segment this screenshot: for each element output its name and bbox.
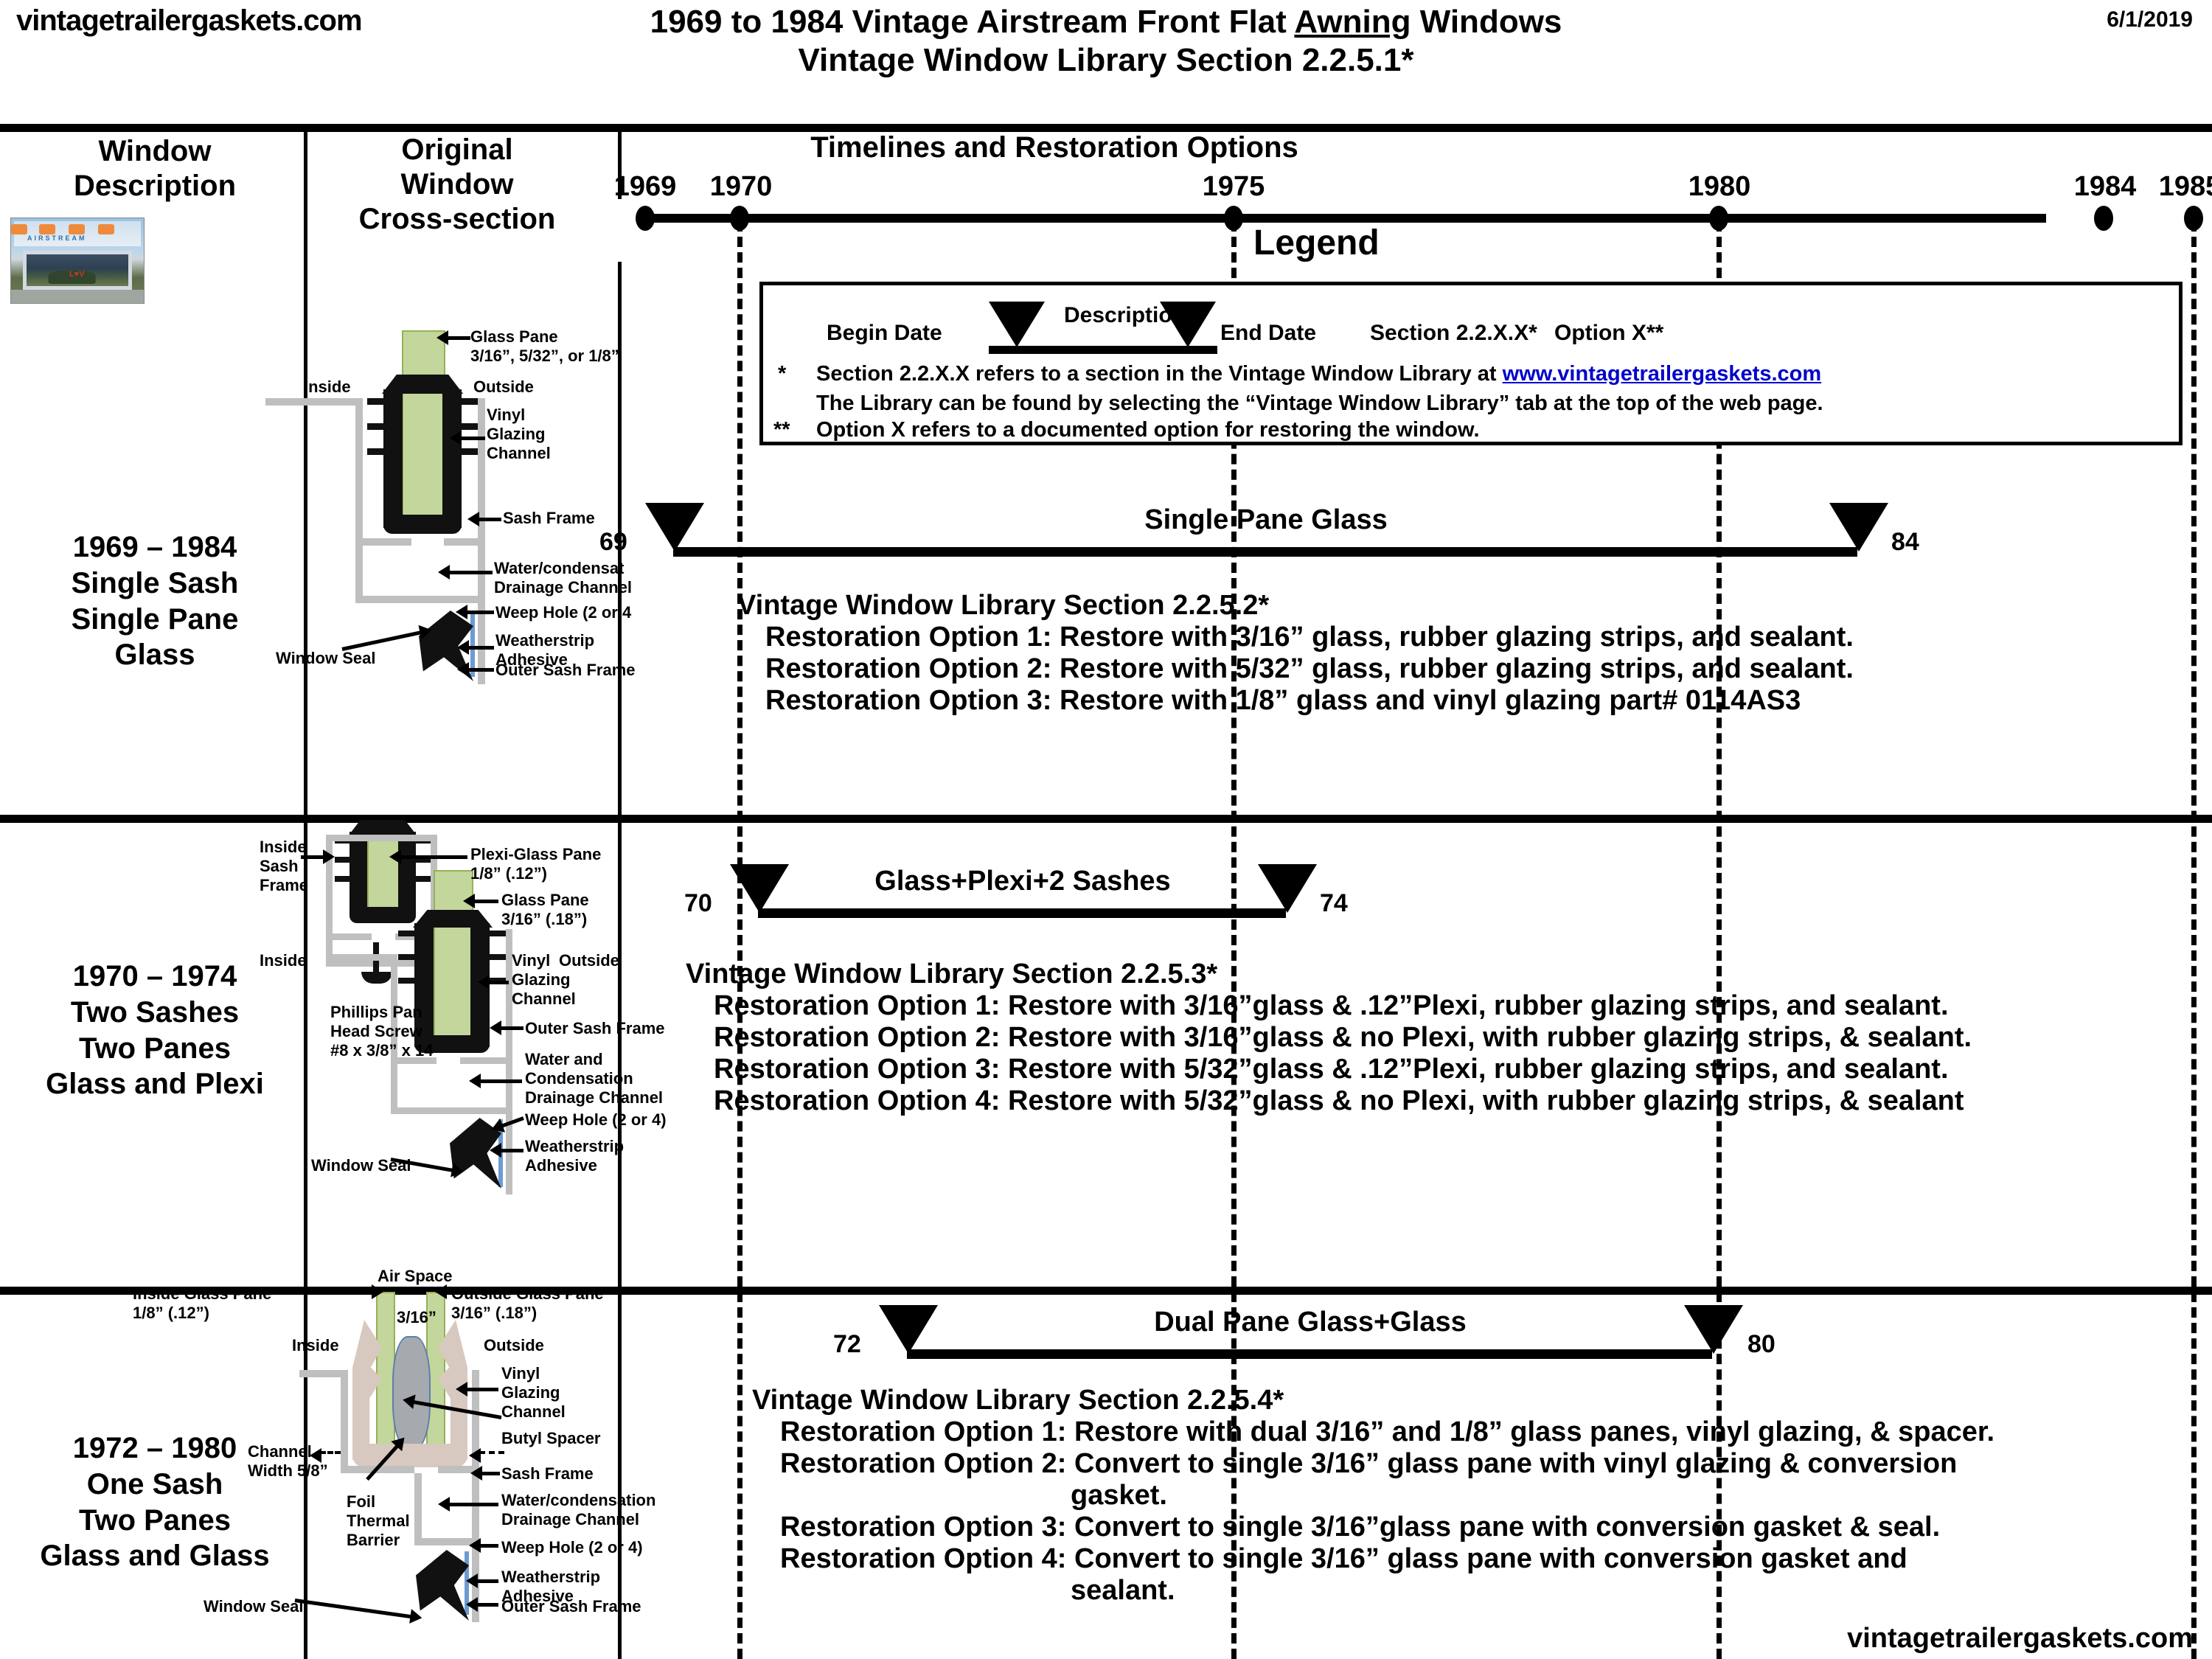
row2-line2: Two Sashes (7, 995, 302, 1031)
label-row3-water-drainage: Water/condensationDrainage Channel (501, 1491, 655, 1529)
row1-line3: Single Pane (7, 602, 302, 638)
inner-fin-l2 (335, 857, 349, 863)
row-3-cross-section-diagram: Inside Glass Pane1/8” (.12”) Air Space 3… (258, 1298, 619, 1652)
arrow-drainage-channel (448, 571, 493, 574)
label-outer-sash-frame: Outer Sash Frame (495, 661, 636, 680)
column-header-window-description: Window Description (7, 134, 302, 204)
arrow-outside-glass-pane (445, 1290, 462, 1294)
arrow-row2-drainage (479, 1079, 522, 1083)
inner-glazing-right (398, 832, 416, 914)
row-1-timeline: 69 84 Single Pane Glass (645, 516, 2194, 582)
pumpkin-decal-3 (98, 224, 114, 234)
label-row3-inside: Inside (292, 1336, 339, 1355)
arrow-row3-outer-sash-frame (476, 1603, 498, 1607)
title-underlined-word: Awning (1294, 4, 1411, 40)
row3-option-3: Restoration Option 3: Convert to single … (752, 1512, 2212, 1543)
arrow-window-seal (341, 630, 422, 651)
glazing-left-shape (383, 389, 403, 528)
label-row3-vinyl-glazing: VinylGlazingChannel (501, 1364, 566, 1422)
axis-label-1980: 1980 (1668, 171, 1771, 203)
row1-bar (673, 547, 1857, 557)
row3-option-2-cont: gasket. (752, 1480, 2212, 1512)
row3-option-2: Restoration Option 2: Convert to single … (752, 1448, 2212, 1480)
arrow-row3-sash-frame (481, 1472, 500, 1475)
label-row2-weatherstrip: WeatherstripAdhesive (525, 1137, 624, 1175)
col2-line2: Window (310, 167, 605, 202)
row1-line2: Single Sash (7, 566, 302, 602)
row-2-timeline: 70 74 Glass+Plexi+2 Sashes (730, 877, 2197, 944)
legend-option-ref: Option X** (1554, 321, 1663, 346)
inner-glazing-bottom (349, 907, 416, 923)
outer-fin-l1 (398, 931, 414, 936)
arrow-row3-window-seal (295, 1599, 412, 1618)
row-1-description: 1969 – 1984 Single Sash Single Pane Glas… (7, 529, 302, 673)
row1-caption: Single Pane Glass (645, 504, 1887, 536)
label-water-drainage: Water/condensatDrainage Channel (494, 559, 632, 597)
mid-connector-rail (326, 954, 397, 961)
legend-box: Begin Date Description End Date Section … (759, 282, 2183, 445)
row-3-timeline: 72 80 Dual Pane Glass+Glass (879, 1318, 2199, 1385)
document-date: 6/1/2019 (2107, 7, 2193, 32)
axis-dot-1969 (636, 206, 655, 231)
gasket-bottom-shape (352, 1444, 467, 1467)
col2-line1: Original (310, 133, 605, 167)
legend-footnote-1-text-2: The Library can be found by selecting th… (816, 392, 1823, 416)
legend-title: Legend (1253, 223, 1380, 263)
row2-option-3: Restoration Option 3: Restore with 5/32”… (686, 1054, 2205, 1085)
airstream-logo-text: AIRSTREAM (27, 234, 87, 242)
axis-label-1970: 1970 (689, 171, 793, 203)
arrow-vinyl-glazing (460, 437, 485, 440)
photo-foreground (11, 290, 144, 303)
row-1-restoration-text: Vintage Window Library Section 2.2.5.2* … (737, 590, 2183, 717)
row3-sash-left-wall (341, 1370, 348, 1473)
screw-head (361, 972, 392, 984)
site-watermark-top: vintagetrailergaskets.com (16, 4, 362, 38)
label-row2-water-drainage: Water andCondensationDrainage Channel (525, 1050, 663, 1107)
sash-mid-rail-b (444, 538, 485, 546)
row2-option-1: Restoration Option 1: Restore with 3/16”… (686, 990, 2205, 1022)
legend-end-date: End Date (1220, 321, 1316, 346)
arrow-sash-frame (478, 518, 501, 521)
col2-line3: Cross-section (310, 202, 605, 237)
row3-drain-left-wall (414, 1473, 422, 1545)
glazing-fin-r1 (460, 398, 478, 405)
inner-sash-top (326, 835, 437, 841)
label-air-space: Air Space (378, 1267, 453, 1286)
drain-floor (355, 596, 485, 603)
col1-line1: Window (7, 134, 302, 169)
row1-option-1: Restoration Option 1: Restore with 3/16”… (737, 622, 2183, 653)
legend-footnote-2-mark: ** (773, 418, 790, 442)
inner-fin-r3 (416, 876, 431, 882)
arrow-weatherstrip (467, 646, 494, 650)
arrow-outer-sash-frame (467, 668, 494, 672)
row2-section-ref: Vintage Window Library Section 2.2.5.3* (686, 959, 2205, 990)
row3-window-seal-shape (416, 1550, 469, 1621)
row1-option-2: Restoration Option 2: Restore with 5/32”… (737, 653, 2183, 685)
arrow-row2-vinyl-glazing (488, 981, 509, 984)
row2-caption: Glass+Plexi+2 Sashes (730, 866, 1315, 897)
document-title: 1969 to 1984 Vintage Airstream Front Fla… (516, 3, 1696, 80)
row2-years: 1970 – 1974 (7, 959, 302, 995)
drain-left-wall (355, 546, 363, 603)
inner-sash-mid-a (326, 933, 372, 940)
label-window-seal: Window Seal (276, 649, 375, 668)
legend-begin-date: Begin Date (827, 321, 942, 346)
row-3-restoration-text: Vintage Window Library Section 2.2.5.4* … (752, 1385, 2212, 1607)
legend-footnote-1-text: Section 2.2.X.X refers to a section in t… (816, 362, 1821, 386)
label-row2-weep-hole: Weep Hole (2 or 4) (525, 1110, 667, 1130)
axis-dot-1984 (2094, 206, 2113, 231)
label-inside-sash-frame: InsideSashFrame (260, 838, 308, 895)
sash-inner-wall (355, 398, 363, 546)
glazing-fin-r3 (460, 448, 478, 455)
legend-footnote-2-text: Option X refers to a documented option f… (816, 418, 1480, 442)
arrow-inside-glass-pane (279, 1290, 373, 1294)
outer-drain-floor (391, 1107, 512, 1114)
arrow-row3-weatherstrip (476, 1579, 498, 1583)
label-inside: Inside (304, 378, 351, 397)
glazing-right-shape (442, 389, 462, 528)
axis-label-1969: 1969 (594, 171, 697, 203)
master-timeline-axis (645, 214, 2046, 223)
arrow-inside-sash-frame (301, 855, 324, 859)
outer-mid-rail-b (460, 1057, 512, 1064)
arrow-glass-pane (447, 336, 470, 340)
axis-label-1975: 1975 (1182, 171, 1285, 203)
glazing-fin-l1 (367, 398, 385, 405)
title-line-1: 1969 to 1984 Vintage Airstream Front Fla… (650, 4, 1562, 40)
row-2-cross-section-diagram: InsideSashFrame Plexi-Glass Pane1/8” (.1… (265, 824, 618, 1281)
glazing-fin-l2 (367, 423, 385, 430)
outer-fin-l2 (398, 954, 414, 960)
arrow-channel-width-left (320, 1451, 341, 1454)
row1-line4: Glass (7, 637, 302, 673)
label-row3-outer-sash-frame: Outer Sash Frame (501, 1597, 641, 1616)
weatherstrip-adhesive-shape (470, 611, 475, 677)
rule-row1-row2 (0, 815, 2212, 823)
row2-line4: Glass and Plexi (7, 1066, 302, 1102)
label-outside-glass-pane: Outside Glass Pane3/16” (.18”) (451, 1284, 604, 1323)
sash-top-left-rail (265, 398, 361, 406)
arrow-row2-weatherstrip (500, 1149, 524, 1152)
photo-window: L♥V (23, 251, 132, 290)
glazing-fin-r2 (460, 423, 478, 430)
label-plexi-pane: Plexi-Glass Pane1/8” (.12”) (470, 845, 601, 883)
outer-sash-frame-shape (478, 603, 485, 684)
label-row2-outer-sash-frame: Outer Sash Frame (525, 1019, 665, 1038)
legend-sample-row: Begin Date Description End Date Section … (776, 302, 2192, 347)
arrow-row2-outer-sash-frame (500, 1026, 524, 1030)
begin-marker-triangle (989, 302, 1045, 347)
pumpkin-decal-2-wrap (11, 224, 27, 234)
row1-years: 1969 – 1984 (7, 529, 302, 566)
label-row2-inside: Inside (260, 951, 307, 970)
label-butyl-spacer: Butyl Spacer (501, 1429, 601, 1448)
arrow-channel-width-right (479, 1451, 504, 1454)
row-1-cross-section-diagram: Glass Pane3/16”, 5/32”, or 1/8” Inside O… (310, 324, 618, 796)
label-weep-hole: Weep Hole (2 or 4 (495, 603, 631, 622)
row3-section-ref: Vintage Window Library Section 2.2.5.4* (752, 1385, 2212, 1416)
label-air-dimension: 3/16” (397, 1308, 437, 1327)
label-row3-outside: Outside (484, 1336, 544, 1355)
arrow-row3-vinyl-glazing (466, 1388, 498, 1391)
arrow-row3-drainage (448, 1503, 498, 1506)
col1-line2: Description (7, 169, 302, 204)
outer-fin-l3 (398, 978, 414, 984)
label-outside: Outside (473, 378, 534, 397)
row2-option-2: Restoration Option 2: Restore with 3/16”… (686, 1022, 2205, 1054)
arrow-weep-hole (466, 611, 494, 614)
arrow-plexi-pane (400, 855, 467, 859)
label-phillips-screw: Phillips PanHead Screw#8 x 3/8” x 14 (330, 1003, 433, 1060)
row-2-description: 1970 – 1974 Two Sashes Two Panes Glass a… (7, 959, 302, 1102)
label-row2-vinyl-glazing: VinylGlazingChannel (512, 951, 576, 1009)
row3-begin-year: 72 (833, 1330, 861, 1359)
row1-section-ref: Vintage Window Library Section 2.2.5.2* (737, 590, 2183, 622)
airstream-window-photo: AIRSTREAM L♥V (10, 218, 145, 304)
inner-glazing-left (349, 832, 367, 914)
arrow-row3-weep-hole (479, 1544, 498, 1548)
legend-section-ref: Section 2.2.X.X* (1370, 321, 1537, 346)
glazing-bottom-shape (383, 515, 462, 534)
inner-fin-l3 (335, 876, 349, 882)
column-header-timelines: Timelines and Restoration Options (612, 131, 1497, 164)
glazing-fin-l3 (367, 448, 385, 455)
row3-drain-right-wall (472, 1473, 479, 1545)
drain-right-wall (478, 546, 485, 603)
row2-option-4: Restoration Option 4: Restore with 5/32”… (686, 1085, 2205, 1117)
label-foil-thermal-barrier: FoilThermalBarrier (347, 1492, 410, 1550)
love-decal: L♥V (69, 270, 85, 279)
row2-begin-year: 70 (684, 889, 712, 918)
title-line-2: Vintage Window Library Section 2.2.5.1* (516, 41, 1696, 80)
row1-option-3: Restoration Option 3: Restore with 1/8” … (737, 685, 2183, 717)
row3-option-4: Restoration Option 4: Convert to single … (752, 1543, 2212, 1575)
pumpkin-decal-1 (39, 224, 55, 234)
row-2-restoration-text: Vintage Window Library Section 2.2.5.3* … (686, 959, 2205, 1117)
legend-footnote-1-mark: * (778, 362, 786, 386)
label-row3-weep-hole: Weep Hole (2 or 4) (501, 1538, 643, 1557)
row3-option-4-cont: sealant. (752, 1575, 2212, 1607)
outer-fin-r1 (490, 931, 506, 936)
row2-line3: Two Panes (7, 1031, 302, 1067)
row3-end-year: 80 (1747, 1330, 1775, 1359)
label-vinyl-glazing-channel: VinylGlazingChannel (487, 406, 551, 463)
label-row3-window-seal: Window Seal (204, 1597, 303, 1616)
row1-end-year: 84 (1891, 528, 1919, 557)
row1-begin-year: 69 (599, 528, 627, 557)
row3-option-1: Restoration Option 1: Restore with dual … (752, 1416, 2212, 1448)
label-row3-sash-frame: Sash Frame (501, 1464, 594, 1484)
label-inside-glass-pane: Inside Glass Pane1/8” (.12”) (133, 1284, 271, 1323)
row2-end-year: 74 (1320, 889, 1348, 918)
row3-caption: Dual Pane Glass+Glass (879, 1307, 1742, 1338)
glass-pane-shape (402, 330, 445, 525)
arrow-row2-glass-pane (473, 900, 498, 903)
outer-fin-r2 (490, 954, 506, 960)
axis-label-1985: 1985 (2138, 171, 2212, 203)
site-watermark-bottom: vintagetrailergaskets.com (1847, 1623, 2193, 1655)
pumpkin-decal-2 (69, 224, 85, 234)
label-sash-frame: Sash Frame (503, 509, 595, 528)
label-glass-pane: Glass Pane3/16”, 5/32”, or 1/8” (470, 327, 619, 366)
column-header-cross-section: Original Window Cross-section (310, 133, 605, 237)
sash-mid-rail-a (355, 538, 411, 546)
row3-bar (907, 1349, 1712, 1359)
vintage-window-library-link[interactable]: www.vintagetrailergaskets.com (1503, 362, 1821, 386)
row2-bar (758, 908, 1286, 918)
end-marker-triangle (1160, 302, 1216, 347)
label-row2-glass-pane: Glass Pane3/16” (.18”) (501, 891, 589, 929)
